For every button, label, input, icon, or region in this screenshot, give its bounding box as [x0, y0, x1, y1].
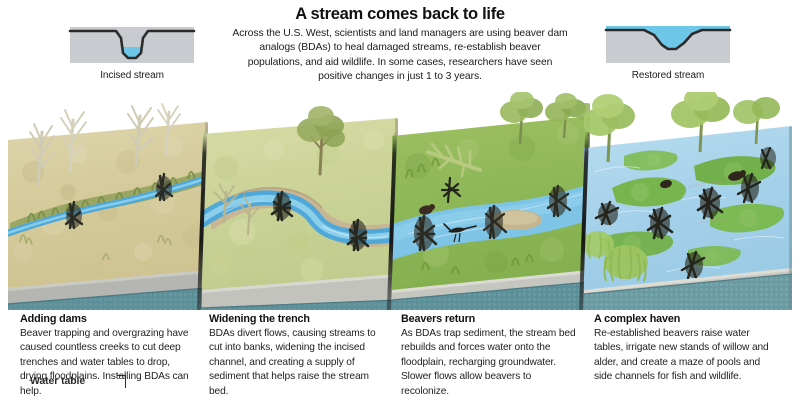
deck-text: Across the U.S. West, scientists and lan… [232, 27, 568, 84]
panel-1-illustration [8, 92, 208, 310]
water-table-pointer-icon [117, 375, 126, 388]
panel-block-widening-the-trench [202, 92, 398, 310]
beaver-dam [760, 147, 776, 169]
caption-beavers-return: Beavers return As BDAs trap sediment, th… [401, 313, 581, 399]
cross-section-restored-stream: Restored stream [602, 18, 734, 81]
panel-2-illustration [202, 92, 398, 310]
title-block: A stream comes back to life Across the U… [232, 5, 568, 84]
incised-stream-diagram [66, 18, 198, 65]
illustration-panels: Water table [0, 92, 800, 310]
caption-body: Re-established beavers raise water table… [594, 327, 780, 385]
cross-section-incised-stream: Incised stream [66, 18, 198, 81]
captions-row: Adding dams Beaver trapping and overgraz… [0, 313, 800, 417]
panel-4-illustration [584, 92, 792, 310]
caption-body: As BDAs trap sediment, the stream bed re… [401, 327, 581, 399]
water-table-label: Water table [30, 375, 85, 387]
block-side-face [789, 126, 792, 310]
caption-body: BDAs divert flows, causing streams to cu… [209, 327, 385, 399]
restored-stream-diagram [602, 18, 734, 65]
caption-heading: Beavers return [401, 313, 581, 325]
caption-heading: Adding dams [20, 313, 196, 325]
panel-3-illustration [392, 92, 590, 310]
caption-heading: A complex haven [594, 313, 780, 325]
caption-heading: Widening the trench [209, 313, 385, 325]
cross-section-label-restored: Restored stream [602, 70, 734, 81]
panel-block-beavers-return [392, 92, 590, 310]
caption-body: Beaver trapping and overgrazing have cau… [20, 327, 196, 399]
panel-block-a-complex-haven [584, 92, 792, 310]
caption-a-complex-haven: A complex haven Re-established beavers r… [594, 313, 780, 385]
willow-clump [584, 231, 614, 259]
caption-widening-the-trench: Widening the trench BDAs divert flows, c… [209, 313, 385, 399]
page-title: A stream comes back to life [232, 5, 568, 24]
header: A stream comes back to life Across the U… [0, 0, 800, 92]
panel-block-adding-dams [8, 92, 208, 310]
cross-section-label-incised: Incised stream [66, 70, 198, 81]
